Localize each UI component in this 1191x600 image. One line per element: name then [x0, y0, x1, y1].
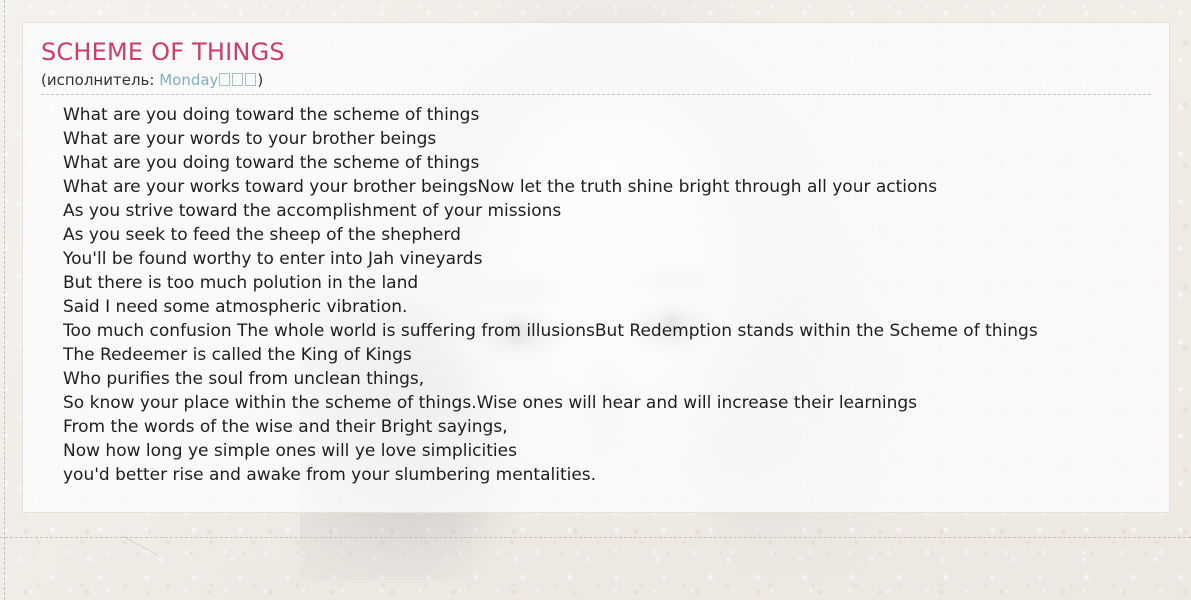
lyric-line: What are your works toward your brother …: [63, 175, 1169, 199]
missing-glyph-box: [245, 73, 256, 86]
lyric-line: Now how long ye simple ones will ye love…: [63, 439, 1169, 463]
lyric-line: Too much confusion The whole world is su…: [63, 319, 1169, 343]
missing-glyph-box: [219, 73, 230, 86]
lyrics-text-body: What are you doing toward the scheme of …: [23, 95, 1169, 487]
artist-prefix-label: (исполнитель:: [41, 71, 159, 89]
page-title: SCHEME OF THINGS: [41, 39, 1151, 67]
missing-glyph-box: [232, 73, 243, 86]
lyric-line: The Redeemer is called the King of Kings: [63, 343, 1169, 367]
card-header: SCHEME OF THINGS (исполнитель: Monday): [23, 23, 1169, 90]
paper-dashed-rule-vertical: [4, 0, 5, 600]
artist-link-label: Monday: [159, 71, 218, 89]
lyric-line: What are your words to your brother bein…: [63, 127, 1169, 151]
lyric-line: What are you doing toward the scheme of …: [63, 151, 1169, 175]
paper-dashed-rule-horizontal: [0, 537, 1191, 538]
missing-glyph-group: [218, 71, 257, 89]
artist-link[interactable]: Monday: [159, 71, 257, 89]
lyric-line: As you strive toward the accomplishment …: [63, 199, 1169, 223]
artist-line: (исполнитель: Monday): [41, 71, 1151, 91]
artist-suffix-label: ): [257, 71, 263, 89]
lyric-line: So know your place within the scheme of …: [63, 391, 1169, 415]
lyric-line: But there is too much polution in the la…: [63, 271, 1169, 295]
lyric-line: you'd better rise and awake from your sl…: [63, 463, 1169, 487]
lyric-line: From the words of the wise and their Bri…: [63, 415, 1169, 439]
lyric-line: What are you doing toward the scheme of …: [63, 103, 1169, 127]
lyric-line: You'll be found worthy to enter into Jah…: [63, 247, 1169, 271]
lyric-line: As you seek to feed the sheep of the she…: [63, 223, 1169, 247]
lyric-line: Said I need some atmospheric vibration.: [63, 295, 1169, 319]
lyric-line: Who purifies the soul from unclean thing…: [63, 367, 1169, 391]
lyrics-card: SCHEME OF THINGS (исполнитель: Monday) W…: [22, 22, 1170, 513]
